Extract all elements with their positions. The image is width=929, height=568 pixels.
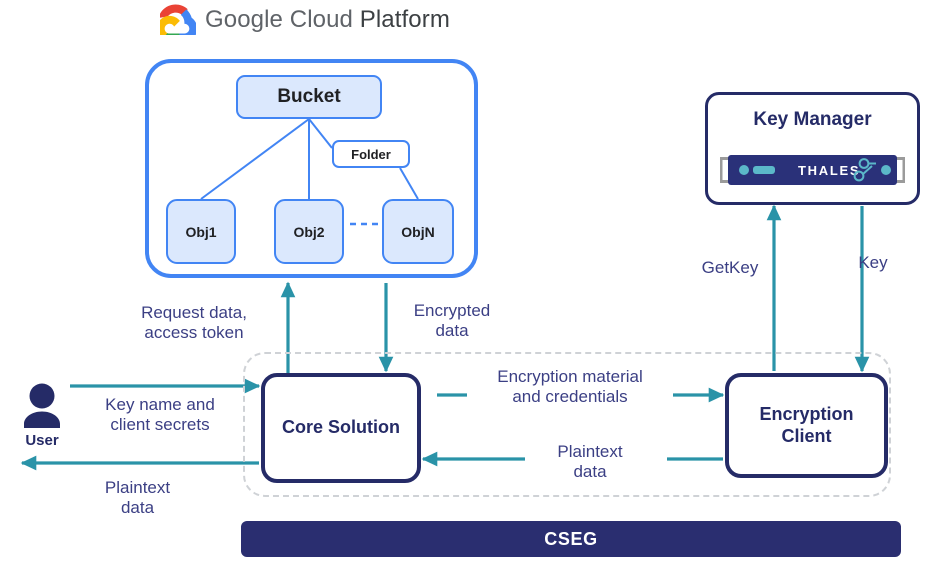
user-label: User: [14, 432, 70, 449]
flow-label-key-name: Key name and client secrets: [76, 395, 244, 436]
cseg-footer-bar: CSEG: [241, 521, 901, 557]
flow-label-request-data: Request data, access token: [114, 303, 274, 344]
folder-box[interactable]: Folder: [332, 140, 410, 168]
object-box-objn[interactable]: ObjN: [382, 199, 454, 264]
gcp-word-cloud: Cloud: [290, 6, 360, 33]
gcp-branding: Google Cloud Platform: [160, 4, 450, 35]
gcp-wordmark: Google Cloud Platform: [205, 6, 450, 34]
bucket-box[interactable]: Bucket: [236, 75, 382, 119]
flow-label-plaintext-data-left: Plaintext data: [70, 478, 205, 519]
google-cloud-logo-icon: [160, 4, 196, 35]
key-manager-title: Key Manager: [708, 109, 917, 131]
flow-label-encryption-material: Encryption material and credentials: [470, 367, 670, 408]
gcp-word-platform: Platform: [360, 6, 450, 33]
object-box-obj2[interactable]: Obj2: [274, 199, 344, 264]
flow-label-key: Key: [838, 253, 908, 273]
user-actor: User: [14, 382, 70, 449]
core-solution-box[interactable]: Core Solution: [261, 373, 421, 483]
encryption-client-box[interactable]: Encryption Client: [725, 373, 888, 478]
user-icon: [20, 382, 64, 430]
flow-label-get-key: GetKey: [680, 258, 780, 278]
object-box-obj1[interactable]: Obj1: [166, 199, 236, 264]
gcp-word-google: Google: [205, 6, 290, 33]
flow-label-encrypted-data: Encrypted data: [392, 301, 512, 342]
flow-label-plaintext-data-mid: Plaintext data: [530, 442, 650, 483]
diagram-canvas: Google Cloud Platform: [0, 0, 929, 568]
thales-appliance-icon: THALES: [720, 151, 905, 189]
svg-text:THALES: THALES: [798, 163, 860, 178]
key-manager-box[interactable]: Key Manager THALES: [705, 92, 920, 205]
